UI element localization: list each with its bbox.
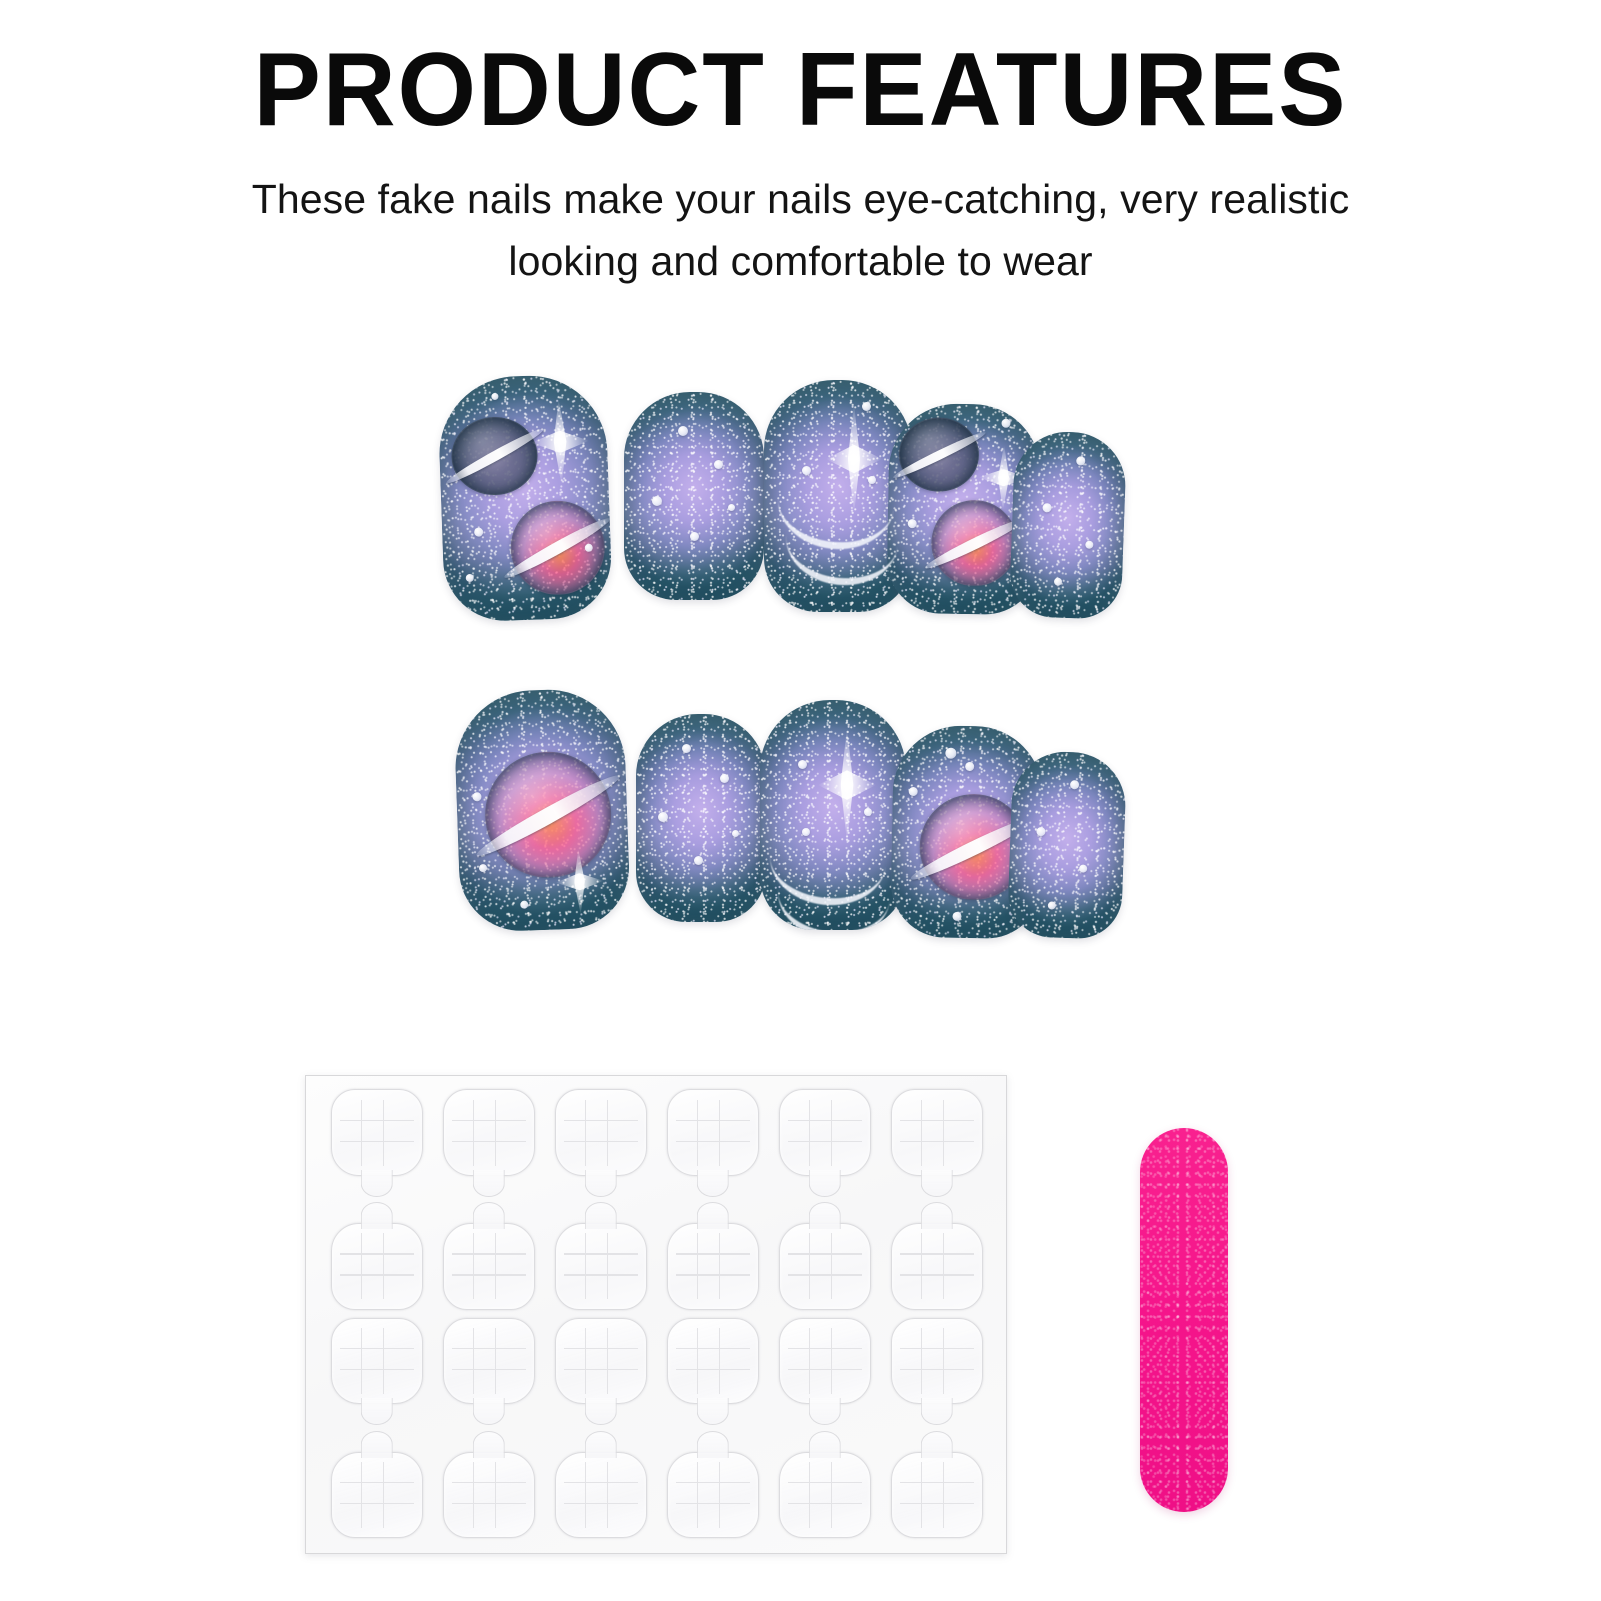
dot-icon [472,792,481,801]
adhesive-tab-nub [921,1431,953,1458]
star-icon [978,444,1029,511]
nail-bottom-2 [636,714,766,922]
product-features-page: PRODUCT FEATURES These fake nails make y… [0,0,1601,1601]
star-icon [826,404,882,514]
dot-icon [720,774,729,783]
adhesive-tab-grid-lines [564,1233,637,1299]
dot-icon [1042,503,1051,512]
star-icon [818,728,876,842]
dot-icon [868,476,876,484]
dot-icon [1054,578,1062,586]
adhesive-tab-nub [473,1431,505,1458]
star-icon [530,398,591,486]
adhesive-tab [891,1452,983,1539]
adhesive-tab-grid-lines [676,1100,749,1166]
nail-bottom-5 [1007,750,1127,940]
adhesive-tab-nub [809,1202,841,1229]
nail-top-4 [886,403,1042,616]
page-title: PRODUCT FEATURES [24,0,1577,142]
adhesive-tab-grid-lines [676,1233,749,1299]
dot-icon [728,504,735,511]
dot-icon [798,760,807,769]
nail-bottom-3 [760,700,906,930]
planet-dark-icon [898,417,979,492]
dot-icon [909,787,918,796]
dot-icon [474,527,483,536]
planet-glow-icon [919,793,1029,901]
nail-top-2 [624,392,764,600]
planet-dark-icon [450,416,539,497]
adhesive-tab [891,1089,983,1176]
dot-icon [802,466,811,475]
adhesive-tab-nub [361,1398,393,1425]
orbit-arc-icon [774,846,894,930]
adhesive-tab-grid [306,1076,1006,1553]
dot-icon [491,393,498,400]
adhesive-tab-grid-lines [340,1328,413,1394]
dot-icon [585,544,593,552]
nail-top-5 [1009,430,1127,620]
dot-icon [965,762,974,771]
dot-icon [466,574,474,582]
nail-bottom-1 [453,687,631,933]
adhesive-tab-grid-lines [340,1462,413,1528]
adhesive-tab-nub [585,1431,617,1458]
adhesive-tab-grid-lines [452,1233,525,1299]
adhesive-tab-grid-lines [676,1328,749,1394]
adhesive-tab-nub [473,1398,505,1425]
dot-icon [1079,864,1087,872]
nail-file [1140,1128,1228,1512]
nail-top-1 [437,373,613,623]
adhesive-tab-grid-lines [340,1233,413,1299]
adhesive-tab-grid-lines [564,1328,637,1394]
star-icon [554,848,604,916]
nail-top-3 [764,380,912,612]
adhesive-tab [331,1452,423,1539]
adhesive-tab-grid-lines [788,1100,861,1166]
dot-icon [1085,541,1093,549]
adhesive-tab [779,1318,871,1405]
adhesive-tab-grid-lines [452,1100,525,1166]
adhesive-tab-nub [361,1170,393,1197]
adhesive-tab [555,1223,647,1310]
adhesive-tab-nub [697,1431,729,1458]
adhesive-tab-nub [361,1202,393,1229]
adhesive-tab-nub [473,1170,505,1197]
adhesive-tab-grid-lines [564,1462,637,1528]
orbit-arc-icon [766,810,891,911]
adhesive-tab-grid-lines [788,1328,861,1394]
adhesive-tab-sheet [305,1075,1007,1554]
dot-icon [652,496,662,506]
dot-icon [1001,419,1010,428]
dot-icon [732,830,739,837]
adhesive-tab-nub [473,1202,505,1229]
page-subtitle: These fake nails make your nails eye-cat… [211,168,1391,293]
adhesive-tab-nub [697,1202,729,1229]
adhesive-tab-nub [921,1170,953,1197]
dot-icon [864,808,872,816]
adhesive-tab-grid-lines [676,1462,749,1528]
adhesive-tab-nub [585,1202,617,1229]
orbit-arc-icon [774,452,899,555]
adhesive-tab-nub [921,1202,953,1229]
dot-icon [479,864,487,872]
adhesive-tab-grid-lines [900,1233,973,1299]
adhesive-tab [555,1318,647,1405]
dot-icon [682,744,691,753]
adhesive-tab-nub [697,1170,729,1197]
dot-icon [690,532,699,541]
dot-icon [678,426,688,436]
adhesive-tab [443,1318,535,1405]
dot-icon [1018,529,1026,537]
adhesive-tab [779,1089,871,1176]
adhesive-tab [331,1318,423,1405]
adhesive-tab [555,1452,647,1539]
adhesive-tab [667,1223,759,1310]
adhesive-tab-grid-lines [452,1328,525,1394]
adhesive-tab-nub [361,1431,393,1458]
adhesive-tab-grid-lines [900,1328,973,1394]
orbit-arc-icon [782,490,903,590]
adhesive-tab [891,1318,983,1405]
planet-glow-icon [931,499,1018,586]
adhesive-tab-nub [809,1170,841,1197]
adhesive-tab-nub [809,1431,841,1458]
adhesive-tab-grid-lines [900,1100,973,1166]
dot-icon [658,812,668,822]
adhesive-tab-nub [697,1398,729,1425]
adhesive-tab-grid-lines [788,1233,861,1299]
dot-icon [694,856,703,865]
nail-bottom-4 [890,725,1044,940]
adhesive-tab [443,1089,535,1176]
adhesive-tab-grid-lines [788,1462,861,1528]
dot-icon [952,912,961,921]
adhesive-tab [555,1089,647,1176]
adhesive-tab-nub [921,1398,953,1425]
dot-icon [714,460,723,469]
dot-icon [1048,901,1056,909]
adhesive-tab [891,1223,983,1310]
adhesive-tab [779,1223,871,1310]
dot-icon [945,748,956,759]
adhesive-tab-nub [585,1170,617,1197]
planet-glow-large-icon [483,750,613,880]
dot-icon [1020,831,1028,839]
dot-icon [802,828,810,836]
header: PRODUCT FEATURES These fake nails make y… [0,0,1601,293]
adhesive-tab-grid-lines [452,1462,525,1528]
dot-icon [1070,780,1079,789]
dot-icon [520,901,528,909]
dot-icon [908,519,917,528]
adhesive-tab [667,1089,759,1176]
dot-icon [1076,456,1085,465]
adhesive-tab-grid-lines [564,1100,637,1166]
adhesive-tab-nub [809,1398,841,1425]
planet-glow-icon [509,499,606,596]
adhesive-tab-grid-lines [900,1462,973,1528]
adhesive-tab [443,1223,535,1310]
adhesive-tab [331,1089,423,1176]
adhesive-tab-nub [585,1398,617,1425]
adhesive-tab [779,1452,871,1539]
adhesive-tab [667,1452,759,1539]
dot-icon [862,402,871,411]
adhesive-tab-grid-lines [340,1100,413,1166]
dot-icon [1036,827,1045,836]
adhesive-tab [667,1318,759,1405]
adhesive-tab [443,1452,535,1539]
adhesive-tab [331,1223,423,1310]
